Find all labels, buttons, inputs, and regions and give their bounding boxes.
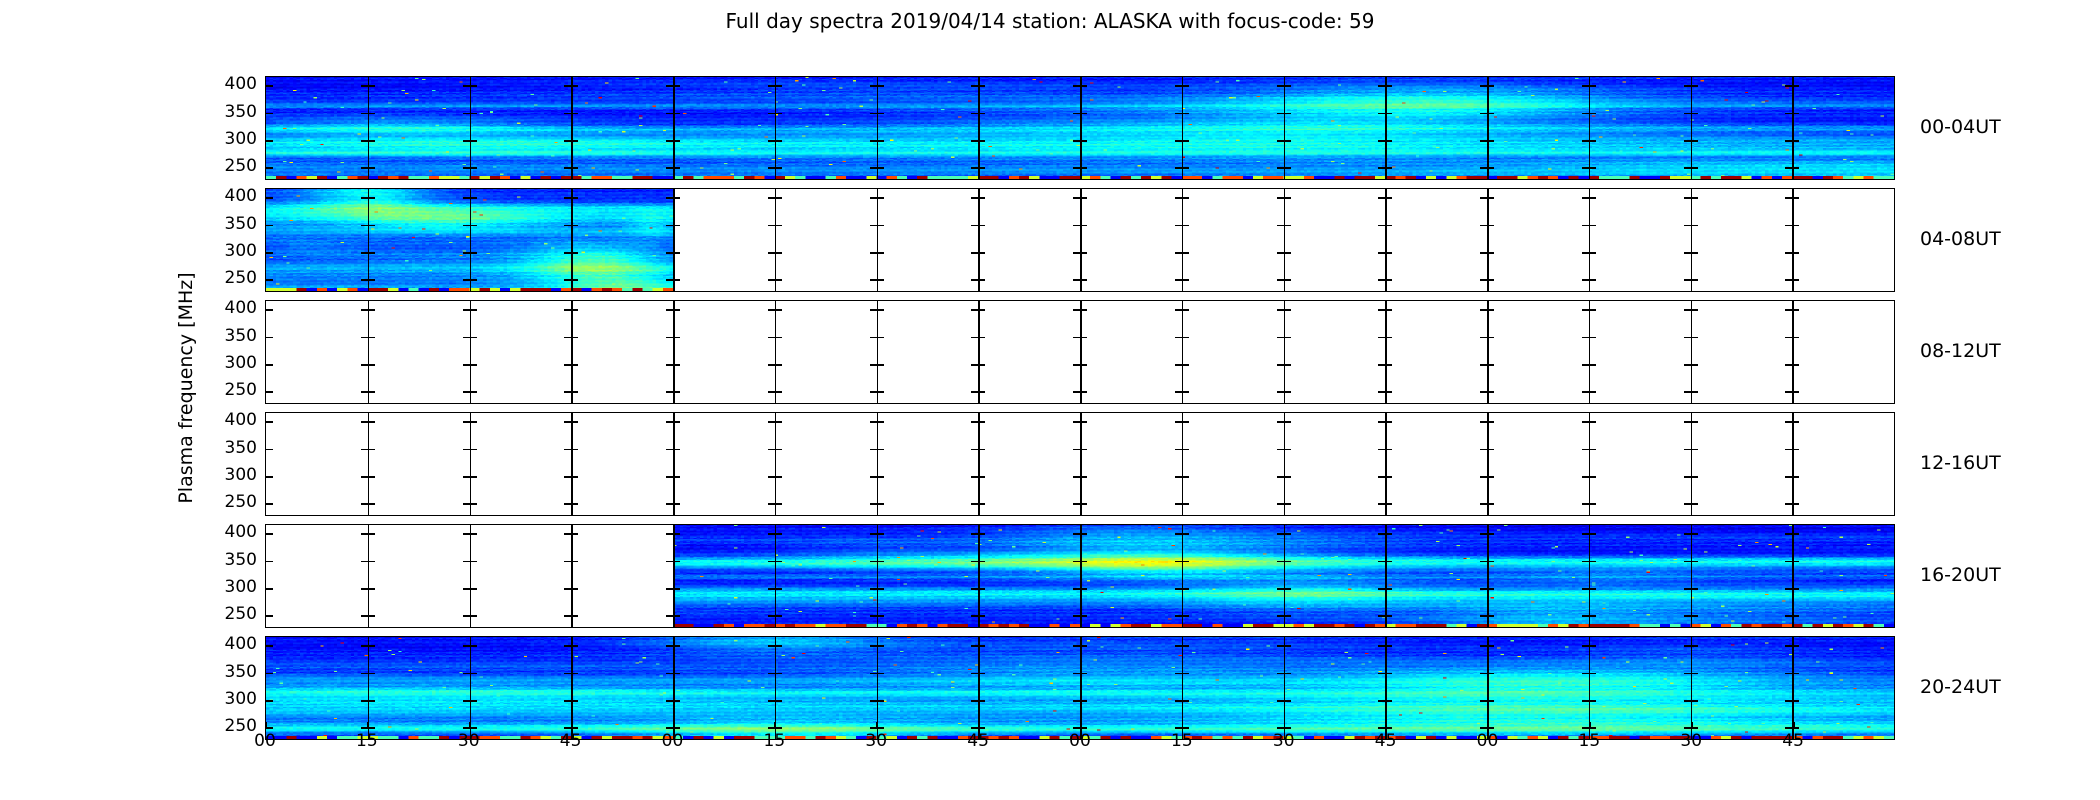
- grid-tick: [463, 533, 477, 535]
- grid-tick: [1684, 252, 1698, 254]
- grid-tick: [1175, 476, 1189, 478]
- x-tick-mark: [367, 722, 369, 729]
- grid-tick: [768, 309, 782, 311]
- x-tick-mark: [1080, 722, 1082, 729]
- grid-tick: [666, 309, 680, 311]
- x-tick-mark: [1793, 722, 1795, 729]
- grid-tick: [564, 391, 578, 393]
- grid-tick: [1785, 252, 1799, 254]
- grid-tick: [463, 337, 477, 339]
- grid-tick: [1073, 279, 1087, 281]
- grid-tick: [1582, 252, 1596, 254]
- gridline: [571, 301, 573, 403]
- grid-tick: [1175, 197, 1189, 199]
- x-tick-mark: [673, 722, 675, 729]
- grid-tick: [1480, 503, 1494, 505]
- gridline: [1284, 413, 1286, 515]
- grid-tick: [870, 449, 884, 451]
- y-tick-label: 400: [205, 186, 257, 206]
- grid-tick: [564, 561, 578, 563]
- grid-tick: [1684, 279, 1698, 281]
- grid-tick: [564, 364, 578, 366]
- grid-tick: [1582, 279, 1596, 281]
- grid-tick: [1684, 337, 1698, 339]
- spectrogram-panel-12-16ut[interactable]: [265, 412, 1895, 516]
- grid-tick: [1277, 337, 1291, 339]
- gridline: [978, 301, 980, 403]
- grid-tick: [1785, 309, 1799, 311]
- grid-tick: [1175, 309, 1189, 311]
- grid-tick: [1582, 503, 1596, 505]
- y-tick-label: 350: [205, 102, 257, 122]
- grid-tick: [1785, 197, 1799, 199]
- x-tick-label: 00: [1050, 731, 1110, 751]
- spectrogram-image: [266, 77, 1894, 179]
- grid-tick: [768, 337, 782, 339]
- grid-tick: [1480, 421, 1494, 423]
- page-title: Full day spectra 2019/04/14 station: ALA…: [0, 9, 2100, 33]
- grid-tick: [1684, 225, 1698, 227]
- gridline: [1385, 413, 1387, 515]
- grid-tick: [1378, 503, 1392, 505]
- x-tick-mark: [1488, 722, 1490, 729]
- gridline: [978, 413, 980, 515]
- grid-tick: [1073, 337, 1087, 339]
- grid-tick: [1785, 391, 1799, 393]
- grid-tick: [1785, 421, 1799, 423]
- grid-tick: [1378, 279, 1392, 281]
- gridline: [1284, 301, 1286, 403]
- grid-tick: [361, 561, 375, 563]
- grid-tick: [870, 279, 884, 281]
- y-tick-label: 350: [205, 662, 257, 682]
- grid-tick: [971, 279, 985, 281]
- grid-tick: [768, 449, 782, 451]
- grid-tick: [1785, 503, 1799, 505]
- y-tick-label: 350: [205, 438, 257, 458]
- gridline: [1487, 413, 1489, 515]
- grid-tick: [1582, 421, 1596, 423]
- y-tick-label: 400: [205, 634, 257, 654]
- y-tick-label: 350: [205, 326, 257, 346]
- gridline: [1182, 301, 1184, 403]
- grid-tick: [971, 421, 985, 423]
- gridline: [673, 301, 675, 403]
- grid-tick: [564, 337, 578, 339]
- grid-tick: [463, 309, 477, 311]
- grid-tick: [1582, 476, 1596, 478]
- grid-tick: [1175, 421, 1189, 423]
- grid-tick: [666, 364, 680, 366]
- gridline: [368, 301, 370, 403]
- gridline: [877, 301, 879, 403]
- grid-tick: [1582, 225, 1596, 227]
- y-tick-label: 300: [205, 129, 257, 149]
- grid-tick: [1480, 197, 1494, 199]
- x-tick-label: 30: [1254, 731, 1314, 751]
- grid-tick: [1480, 337, 1494, 339]
- row-label-04-08ut: 04-08UT: [1920, 228, 2001, 250]
- x-tick-mark: [469, 722, 471, 729]
- grid-tick: [870, 225, 884, 227]
- grid-tick: [768, 421, 782, 423]
- spectrogram-figure: Full day spectra 2019/04/14 station: ALA…: [0, 0, 2100, 800]
- gridline: [368, 413, 370, 515]
- grid-tick: [870, 391, 884, 393]
- grid-tick: [564, 533, 578, 535]
- grid-tick: [1480, 279, 1494, 281]
- grid-tick: [361, 364, 375, 366]
- grid-tick: [1175, 364, 1189, 366]
- y-tick-label: 300: [205, 689, 257, 709]
- grid-tick: [1785, 225, 1799, 227]
- grid-tick: [768, 279, 782, 281]
- grid-tick: [1277, 476, 1291, 478]
- y-tick-mark: [266, 309, 273, 311]
- y-tick-mark: [266, 588, 273, 590]
- x-tick-label: 45: [1356, 731, 1416, 751]
- x-tick-mark: [1691, 722, 1693, 729]
- grid-tick: [768, 197, 782, 199]
- grid-tick: [1684, 449, 1698, 451]
- gridline: [673, 413, 675, 515]
- row-label-08-12ut: 08-12UT: [1920, 340, 2001, 362]
- gridline: [1589, 413, 1591, 515]
- grid-tick: [564, 588, 578, 590]
- grid-tick: [564, 615, 578, 617]
- grid-tick: [971, 197, 985, 199]
- y-tick-mark: [266, 449, 273, 451]
- x-tick-mark: [1284, 722, 1286, 729]
- row-label-16-20ut: 16-20UT: [1920, 564, 2001, 586]
- y-tick-label: 300: [205, 577, 257, 597]
- x-tick-label: 15: [744, 731, 804, 751]
- spectrogram-panel-00-04ut[interactable]: [265, 76, 1895, 180]
- grid-tick: [870, 421, 884, 423]
- grid-tick: [971, 391, 985, 393]
- x-tick-label: 45: [1763, 731, 1823, 751]
- gridline: [978, 189, 980, 291]
- grid-tick: [564, 476, 578, 478]
- grid-tick: [971, 476, 985, 478]
- x-tick-mark: [1386, 722, 1388, 729]
- y-tick-label: 250: [205, 380, 257, 400]
- gridline: [470, 413, 472, 515]
- gridline: [1385, 189, 1387, 291]
- y-tick-label: 400: [205, 298, 257, 318]
- grid-tick: [1175, 503, 1189, 505]
- gridline: [1792, 189, 1794, 291]
- grid-tick: [1378, 197, 1392, 199]
- x-tick-label: 00: [643, 731, 703, 751]
- grid-tick: [666, 337, 680, 339]
- gridline: [1182, 413, 1184, 515]
- grid-tick: [1073, 364, 1087, 366]
- grid-tick: [1175, 449, 1189, 451]
- gridline: [470, 301, 472, 403]
- gridline: [1589, 301, 1591, 403]
- grid-tick: [1684, 421, 1698, 423]
- gridline: [1792, 301, 1794, 403]
- grid-tick: [1277, 364, 1291, 366]
- grid-tick: [1582, 337, 1596, 339]
- grid-tick: [361, 337, 375, 339]
- grid-tick: [564, 449, 578, 451]
- x-tick-label: 00: [235, 731, 295, 751]
- grid-tick: [870, 476, 884, 478]
- gridline: [775, 413, 777, 515]
- grid-tick: [463, 391, 477, 393]
- grid-tick: [1175, 391, 1189, 393]
- grid-tick: [768, 476, 782, 478]
- gridline: [775, 301, 777, 403]
- y-tick-mark: [266, 615, 273, 617]
- grid-tick: [463, 588, 477, 590]
- grid-tick: [1582, 364, 1596, 366]
- x-tick-label: 30: [1661, 731, 1721, 751]
- gridline: [571, 525, 573, 627]
- gridline: [877, 413, 879, 515]
- grid-tick: [1582, 197, 1596, 199]
- grid-tick: [463, 503, 477, 505]
- grid-tick: [666, 503, 680, 505]
- grid-tick: [870, 503, 884, 505]
- grid-tick: [870, 364, 884, 366]
- grid-tick: [1073, 449, 1087, 451]
- grid-tick: [1277, 279, 1291, 281]
- grid-tick: [768, 503, 782, 505]
- grid-tick: [463, 615, 477, 617]
- grid-tick: [1378, 449, 1392, 451]
- y-tick-label: 250: [205, 492, 257, 512]
- grid-tick: [1073, 421, 1087, 423]
- grid-tick: [768, 364, 782, 366]
- grid-tick: [1480, 449, 1494, 451]
- grid-tick: [1480, 252, 1494, 254]
- x-tick-label: 30: [439, 731, 499, 751]
- x-tick-label: 15: [1559, 731, 1619, 751]
- grid-tick: [564, 503, 578, 505]
- grid-tick: [768, 391, 782, 393]
- grid-tick: [1277, 252, 1291, 254]
- grid-tick: [1277, 391, 1291, 393]
- spectrogram-panel-08-12ut[interactable]: [265, 300, 1895, 404]
- grid-tick: [1175, 252, 1189, 254]
- x-tick-mark: [876, 722, 878, 729]
- x-tick-mark: [1589, 722, 1591, 729]
- grid-tick: [1277, 421, 1291, 423]
- grid-tick: [463, 421, 477, 423]
- grid-tick: [463, 449, 477, 451]
- y-tick-mark: [266, 503, 273, 505]
- grid-tick: [1480, 364, 1494, 366]
- y-tick-label: 250: [205, 268, 257, 288]
- grid-tick: [1480, 309, 1494, 311]
- y-tick-label: 400: [205, 74, 257, 94]
- gridline: [1691, 189, 1693, 291]
- grid-tick: [1785, 337, 1799, 339]
- grid-tick: [666, 421, 680, 423]
- y-tick-label: 300: [205, 353, 257, 373]
- grid-tick: [1378, 252, 1392, 254]
- grid-tick: [1684, 309, 1698, 311]
- grid-tick: [361, 615, 375, 617]
- grid-tick: [1684, 476, 1698, 478]
- grid-tick: [361, 391, 375, 393]
- y-tick-mark: [266, 561, 273, 563]
- x-tick-label: 15: [1152, 731, 1212, 751]
- gridline: [1284, 189, 1286, 291]
- grid-tick: [1378, 337, 1392, 339]
- gridline: [1182, 189, 1184, 291]
- grid-tick: [463, 476, 477, 478]
- grid-tick: [564, 421, 578, 423]
- grid-tick: [1073, 391, 1087, 393]
- grid-tick: [971, 252, 985, 254]
- grid-tick: [1378, 476, 1392, 478]
- grid-tick: [1277, 309, 1291, 311]
- grid-tick: [971, 503, 985, 505]
- grid-tick: [1378, 391, 1392, 393]
- spectrogram-panel-16-20ut[interactable]: [265, 524, 1895, 628]
- x-tick-mark: [571, 722, 573, 729]
- y-tick-label: 350: [205, 550, 257, 570]
- gridline: [1080, 413, 1082, 515]
- grid-tick: [1175, 225, 1189, 227]
- x-tick-label: 45: [541, 731, 601, 751]
- grid-tick: [1277, 449, 1291, 451]
- grid-tick: [1073, 197, 1087, 199]
- gridline: [1589, 189, 1591, 291]
- grid-tick: [1582, 449, 1596, 451]
- grid-tick: [1480, 391, 1494, 393]
- grid-tick: [463, 561, 477, 563]
- grid-tick: [1378, 421, 1392, 423]
- grid-tick: [971, 309, 985, 311]
- grid-tick: [666, 476, 680, 478]
- grid-tick: [1073, 503, 1087, 505]
- grid-tick: [1785, 364, 1799, 366]
- grid-tick: [768, 252, 782, 254]
- grid-tick: [870, 337, 884, 339]
- gridline: [1385, 301, 1387, 403]
- gridline: [1080, 301, 1082, 403]
- grid-tick: [666, 391, 680, 393]
- gridline: [1487, 301, 1489, 403]
- y-axis-label-text: Plasma frequency [MHz]: [175, 272, 197, 503]
- grid-tick: [1785, 279, 1799, 281]
- grid-tick: [1582, 309, 1596, 311]
- y-tick-label: 300: [205, 465, 257, 485]
- grid-tick: [1378, 309, 1392, 311]
- x-tick-mark: [1182, 722, 1184, 729]
- gridline: [1792, 413, 1794, 515]
- gridline: [775, 189, 777, 291]
- grid-tick: [1277, 197, 1291, 199]
- x-tick-mark: [265, 722, 267, 729]
- grid-tick: [564, 309, 578, 311]
- grid-tick: [1684, 364, 1698, 366]
- y-tick-mark: [266, 391, 273, 393]
- grid-tick: [1684, 197, 1698, 199]
- grid-tick: [971, 449, 985, 451]
- grid-tick: [1277, 503, 1291, 505]
- y-tick-mark: [266, 533, 273, 535]
- grid-tick: [463, 364, 477, 366]
- y-tick-mark: [266, 337, 273, 339]
- grid-tick: [361, 309, 375, 311]
- y-tick-label: 300: [205, 241, 257, 261]
- gridline: [1487, 189, 1489, 291]
- gridline: [368, 525, 370, 627]
- grid-tick: [1175, 279, 1189, 281]
- y-tick-label: 250: [205, 156, 257, 176]
- spectrogram-panel-04-08ut[interactable]: [265, 188, 1895, 292]
- grid-tick: [1073, 252, 1087, 254]
- x-tick-mark: [774, 722, 776, 729]
- gridline: [1080, 189, 1082, 291]
- grid-tick: [1073, 225, 1087, 227]
- y-tick-label: 250: [205, 604, 257, 624]
- grid-tick: [1480, 225, 1494, 227]
- y-tick-label: 400: [205, 522, 257, 542]
- gridline: [571, 413, 573, 515]
- spectrogram-image: [266, 189, 673, 291]
- y-tick-mark: [266, 476, 273, 478]
- grid-tick: [1073, 309, 1087, 311]
- grid-tick: [1785, 449, 1799, 451]
- x-tick-label: 30: [846, 731, 906, 751]
- grid-tick: [971, 364, 985, 366]
- grid-tick: [361, 533, 375, 535]
- spectrogram-image: [673, 525, 1894, 627]
- grid-tick: [768, 225, 782, 227]
- grid-tick: [1480, 476, 1494, 478]
- grid-tick: [666, 449, 680, 451]
- grid-tick: [1378, 225, 1392, 227]
- y-tick-label: 400: [205, 410, 257, 430]
- grid-tick: [1785, 476, 1799, 478]
- grid-tick: [361, 421, 375, 423]
- row-label-12-16ut: 12-16UT: [1920, 452, 2001, 474]
- grid-tick: [1684, 391, 1698, 393]
- grid-tick: [1684, 503, 1698, 505]
- x-tick-label: 45: [948, 731, 1008, 751]
- grid-tick: [1378, 364, 1392, 366]
- y-tick-label: 350: [205, 214, 257, 234]
- x-tick-mark: [978, 722, 980, 729]
- y-tick-mark: [266, 364, 273, 366]
- grid-tick: [361, 503, 375, 505]
- grid-tick: [870, 252, 884, 254]
- grid-tick: [361, 476, 375, 478]
- row-label-00-04ut: 00-04UT: [1920, 116, 2001, 138]
- gridline: [1691, 301, 1693, 403]
- grid-tick: [1277, 225, 1291, 227]
- gridline: [673, 189, 675, 291]
- grid-tick: [870, 309, 884, 311]
- x-tick-label: 15: [337, 731, 397, 751]
- x-tick-label: 00: [1458, 731, 1518, 751]
- grid-tick: [1175, 337, 1189, 339]
- row-label-20-24ut: 20-24UT: [1920, 676, 2001, 698]
- gridline: [1691, 413, 1693, 515]
- grid-tick: [971, 225, 985, 227]
- gridline: [877, 189, 879, 291]
- y-tick-mark: [266, 421, 273, 423]
- grid-tick: [1582, 391, 1596, 393]
- grid-tick: [870, 197, 884, 199]
